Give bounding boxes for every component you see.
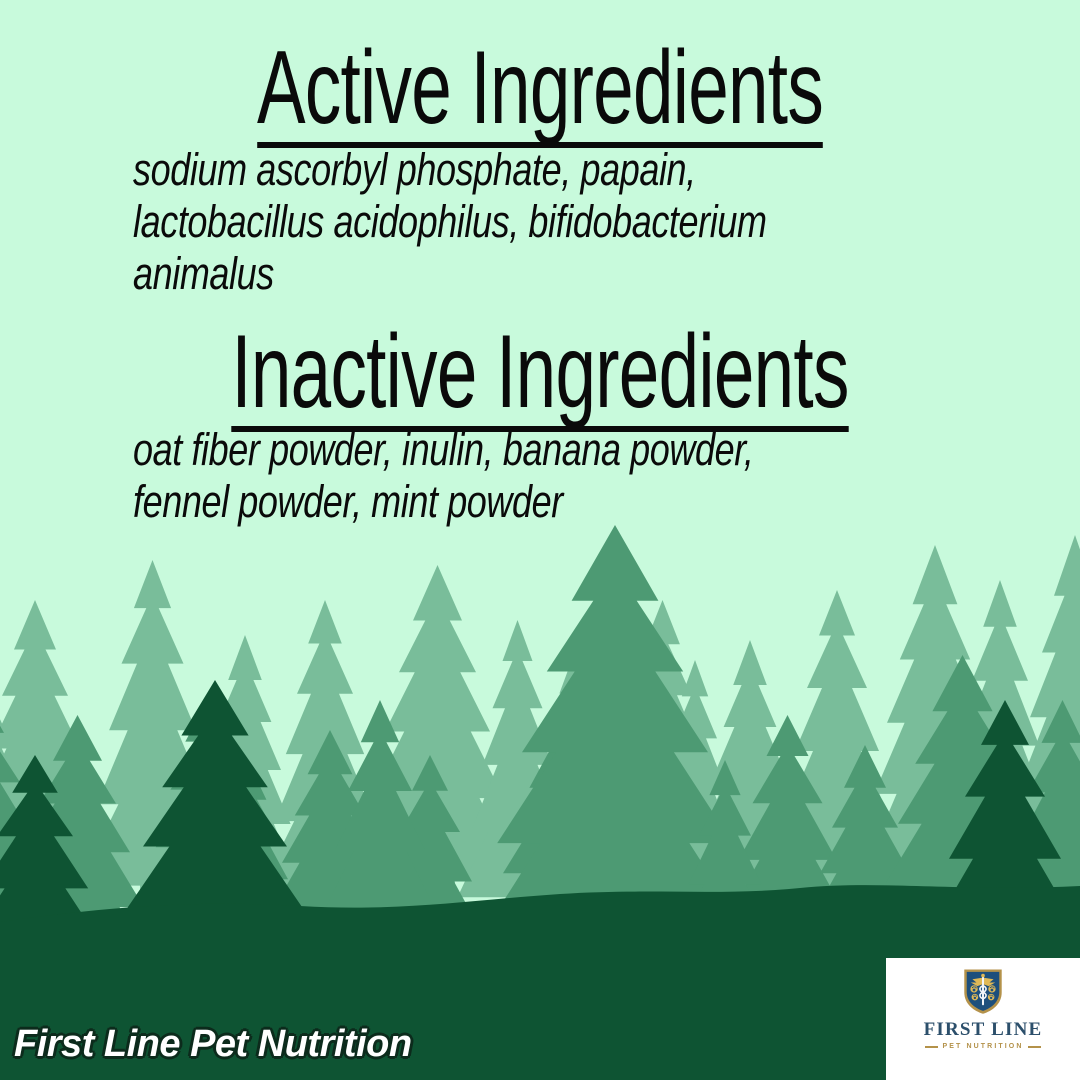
logo-tagline: PET NUTRITION [943, 1043, 1024, 1050]
inactive-heading-text: Inactive Ingredients [231, 320, 848, 432]
active-ingredients-heading: Active Ingredients [162, 36, 918, 148]
logo-tagline-row: PET NUTRITION [925, 1043, 1042, 1050]
inactive-ingredients-heading: Inactive Ingredients [162, 320, 918, 432]
active-ingredients-text: sodium ascorbyl phosphate, papain, lacto… [133, 144, 853, 301]
poster-canvas: Active Ingredients sodium ascorbyl phosp… [0, 0, 1080, 1080]
active-heading-text: Active Ingredients [257, 36, 823, 148]
logo-wordmark: FIRST LINE [924, 1020, 1043, 1039]
brand-watermark: First Line Pet Nutrition [14, 1023, 412, 1066]
shield-caduceus-icon [962, 967, 1004, 1015]
tagline-dash-right-icon [1028, 1046, 1041, 1048]
inactive-ingredients-text: oat fiber powder, inulin, banana powder,… [133, 424, 853, 528]
active-ingredients-list: sodium ascorbyl phosphate, papain, lacto… [133, 144, 1033, 301]
tagline-dash-left-icon [925, 1046, 938, 1048]
inactive-ingredients-list: oat fiber powder, inulin, banana powder,… [133, 424, 1033, 528]
logo-card[interactable]: FIRST LINE PET NUTRITION [886, 958, 1080, 1080]
